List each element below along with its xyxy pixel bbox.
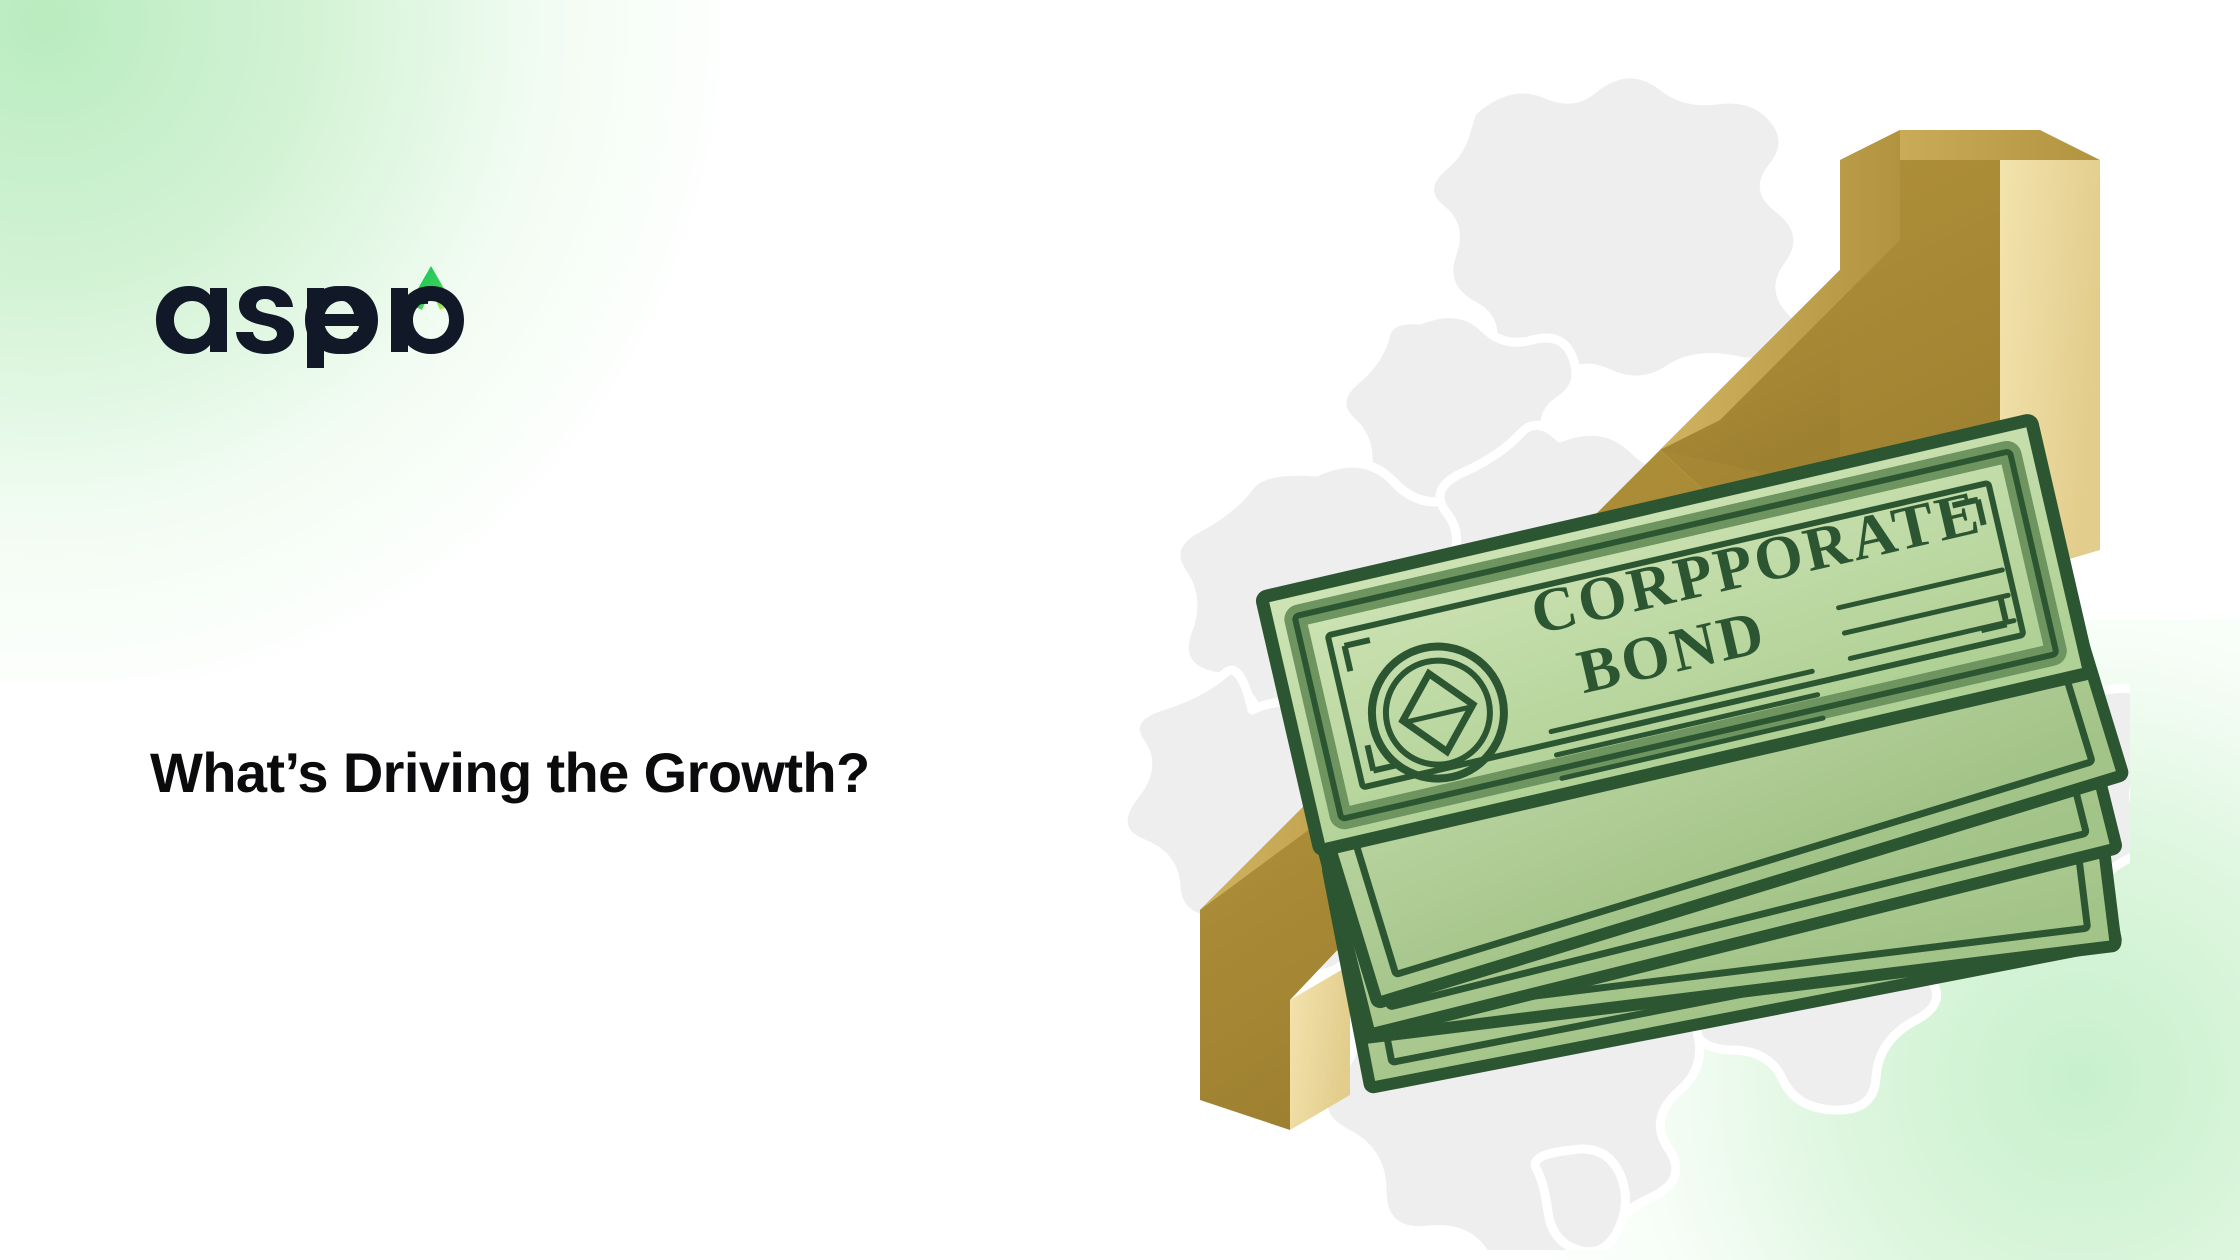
bond-title-line-1: CORPPORATE [1525,478,1988,648]
logo-wordmark [156,286,464,368]
aspero-logo[interactable] [148,258,478,368]
hero-banner: India’s Corporate BondMarket Is Booming … [0,0,2240,1260]
headline-line-1: India’s Corporate Bond [150,480,1133,582]
hero-copy: India’s Corporate BondMarket Is Booming … [150,480,1160,805]
bond-seal-icon [1359,633,1517,791]
india-map-watermark [1120,20,2130,1250]
background-glow-bottom-right [1520,620,2240,1260]
page-subtitle: What’s Driving the Growth? [150,740,1160,805]
bond-title-line-2: BOND [1571,598,1773,707]
upward-arrow-icon [1200,130,2100,1130]
growth-illustration: CORPPORATE BOND [1140,120,2240,1130]
corporate-bond-note-stack: CORPPORATE BOND [1261,420,2123,1088]
page-title: India’s Corporate BondMarket Is Booming [150,480,1160,686]
top-banknote: CORPPORATE BOND [1261,420,2089,851]
headline-line-2: Market Is Booming [150,583,1160,686]
